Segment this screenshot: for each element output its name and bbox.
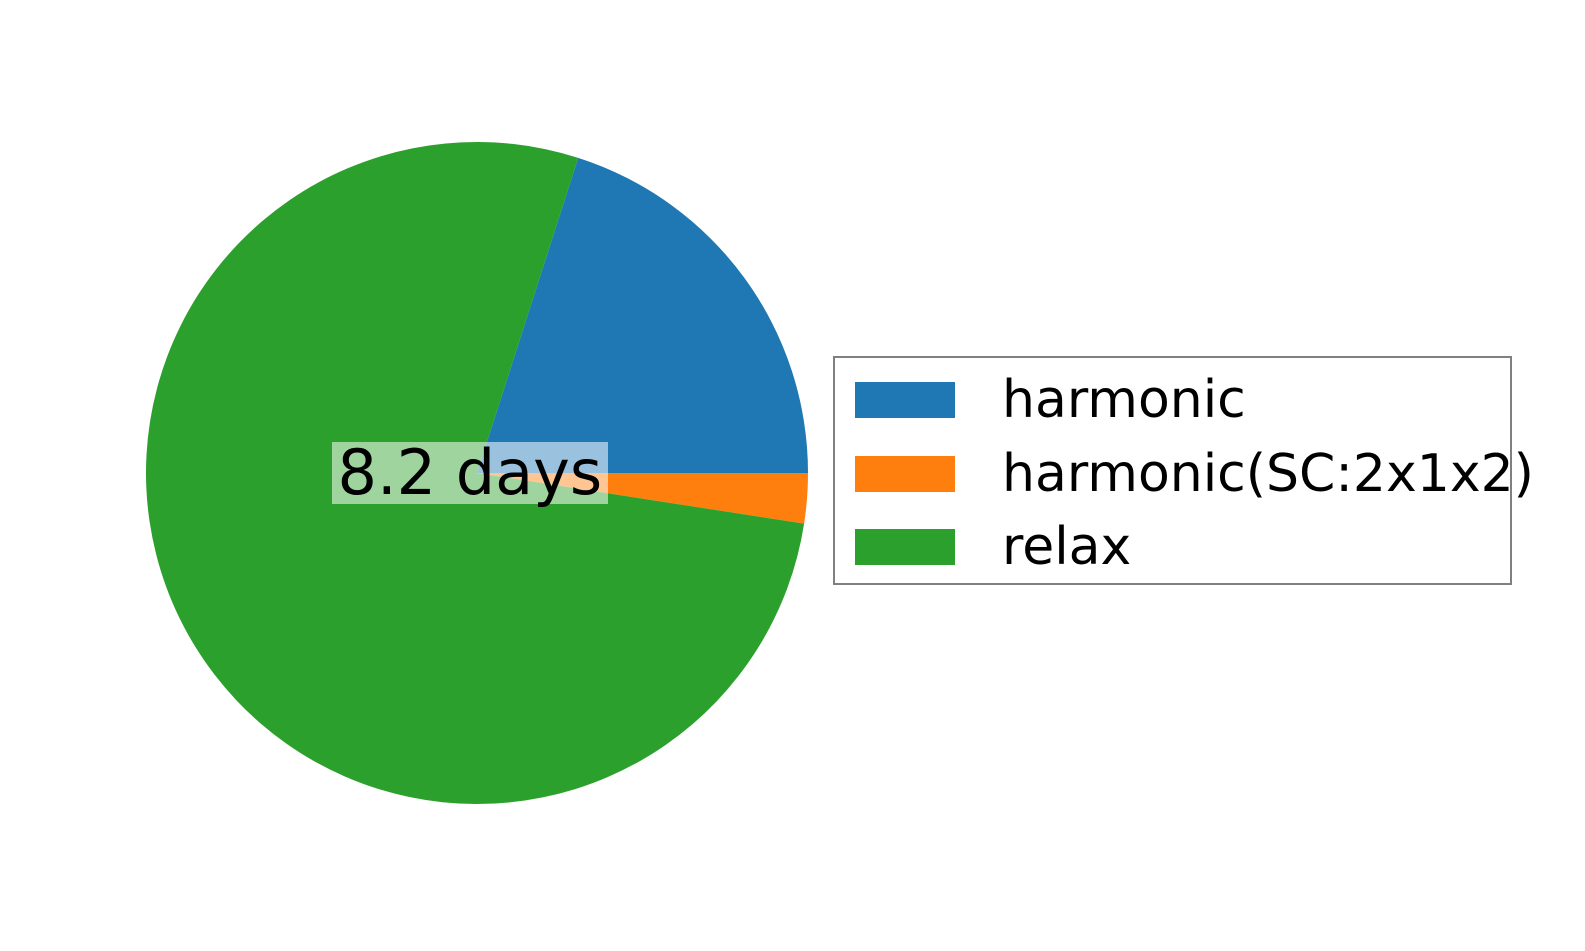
legend-entry-harmonic[interactable]: harmonic — [855, 372, 1246, 428]
legend-entry-relax[interactable]: relax — [855, 519, 1131, 575]
pie-slice-label-text: 8.2 days — [338, 442, 603, 504]
pie-slice-label: 8.2 days — [332, 442, 609, 504]
figure-canvas: 8.2 days harmonic harmonic(SC:2x1x2) rel… — [0, 0, 1585, 951]
legend-entries: harmonic harmonic(SC:2x1x2) relax — [835, 358, 1510, 583]
legend-box: harmonic harmonic(SC:2x1x2) relax — [833, 356, 1512, 585]
legend-label-harmonic: harmonic — [1002, 374, 1246, 426]
legend-entry-harmonic-sc-2x1x2[interactable]: harmonic(SC:2x1x2) — [855, 446, 1534, 502]
legend-swatch-harmonic — [855, 382, 955, 418]
legend-swatch-relax — [855, 529, 955, 565]
legend-label-harmonic-sc-2x1x2: harmonic(SC:2x1x2) — [1002, 448, 1534, 500]
legend-swatch-harmonic-sc-2x1x2 — [855, 456, 955, 492]
legend-label-relax: relax — [1002, 521, 1131, 573]
